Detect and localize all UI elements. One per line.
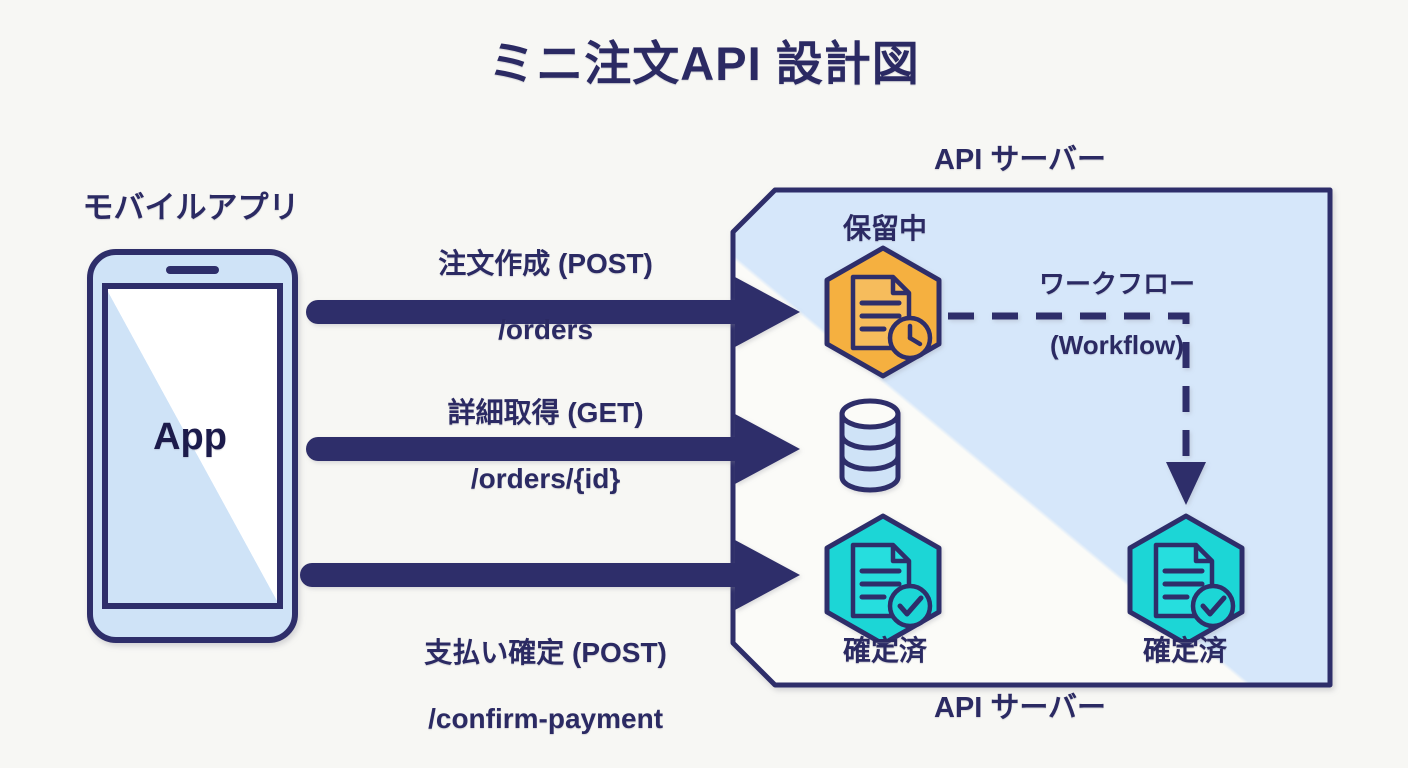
edge-label-line1: 注文作成 (POST): [438, 248, 653, 279]
edge-label-line2: /confirm-payment: [428, 703, 663, 734]
workflow-label-line1: ワークフロー: [1039, 269, 1195, 299]
edge-label-confirm-payment: 支払い確定 (POST) /confirm-payment: [320, 603, 740, 768]
edge-label-line1: 支払い確定 (POST): [424, 637, 667, 668]
diagram-canvas: ミニ注文API 設計図 モバイルアプリ App API サーバー API サーバ…: [0, 0, 1408, 768]
workflow-label: ワークフロー (Workflow): [995, 238, 1210, 391]
edge-label-line2: /orders/{id}: [471, 463, 620, 494]
page-title: ミニ注文API 設計図: [0, 36, 1408, 91]
api-server-label-top: API サーバー: [880, 143, 1160, 177]
edge-label-line2: /orders: [498, 314, 593, 345]
node-label-confirmed-left: 確定済: [795, 634, 975, 667]
node-label-pending: 保留中: [790, 212, 980, 245]
arrow-confirm-payment: [300, 540, 800, 610]
edge-label-create-order: 注文作成 (POST) /orders: [330, 214, 730, 379]
workflow-label-line2: (Workflow): [1050, 330, 1184, 360]
mobile-app-label: モバイルアプリ: [44, 190, 338, 227]
database-cylinder-icon: [842, 401, 898, 490]
edge-label-line1: 詳細取得 (GET): [448, 397, 644, 428]
app-screen-text: App: [100, 415, 280, 460]
node-database[interactable]: [842, 401, 898, 490]
api-server-label-bottom: API サーバー: [880, 691, 1160, 725]
node-label-confirmed-right: 確定済: [1095, 634, 1275, 667]
edge-label-get-order: 詳細取得 (GET) /orders/{id}: [330, 363, 730, 528]
